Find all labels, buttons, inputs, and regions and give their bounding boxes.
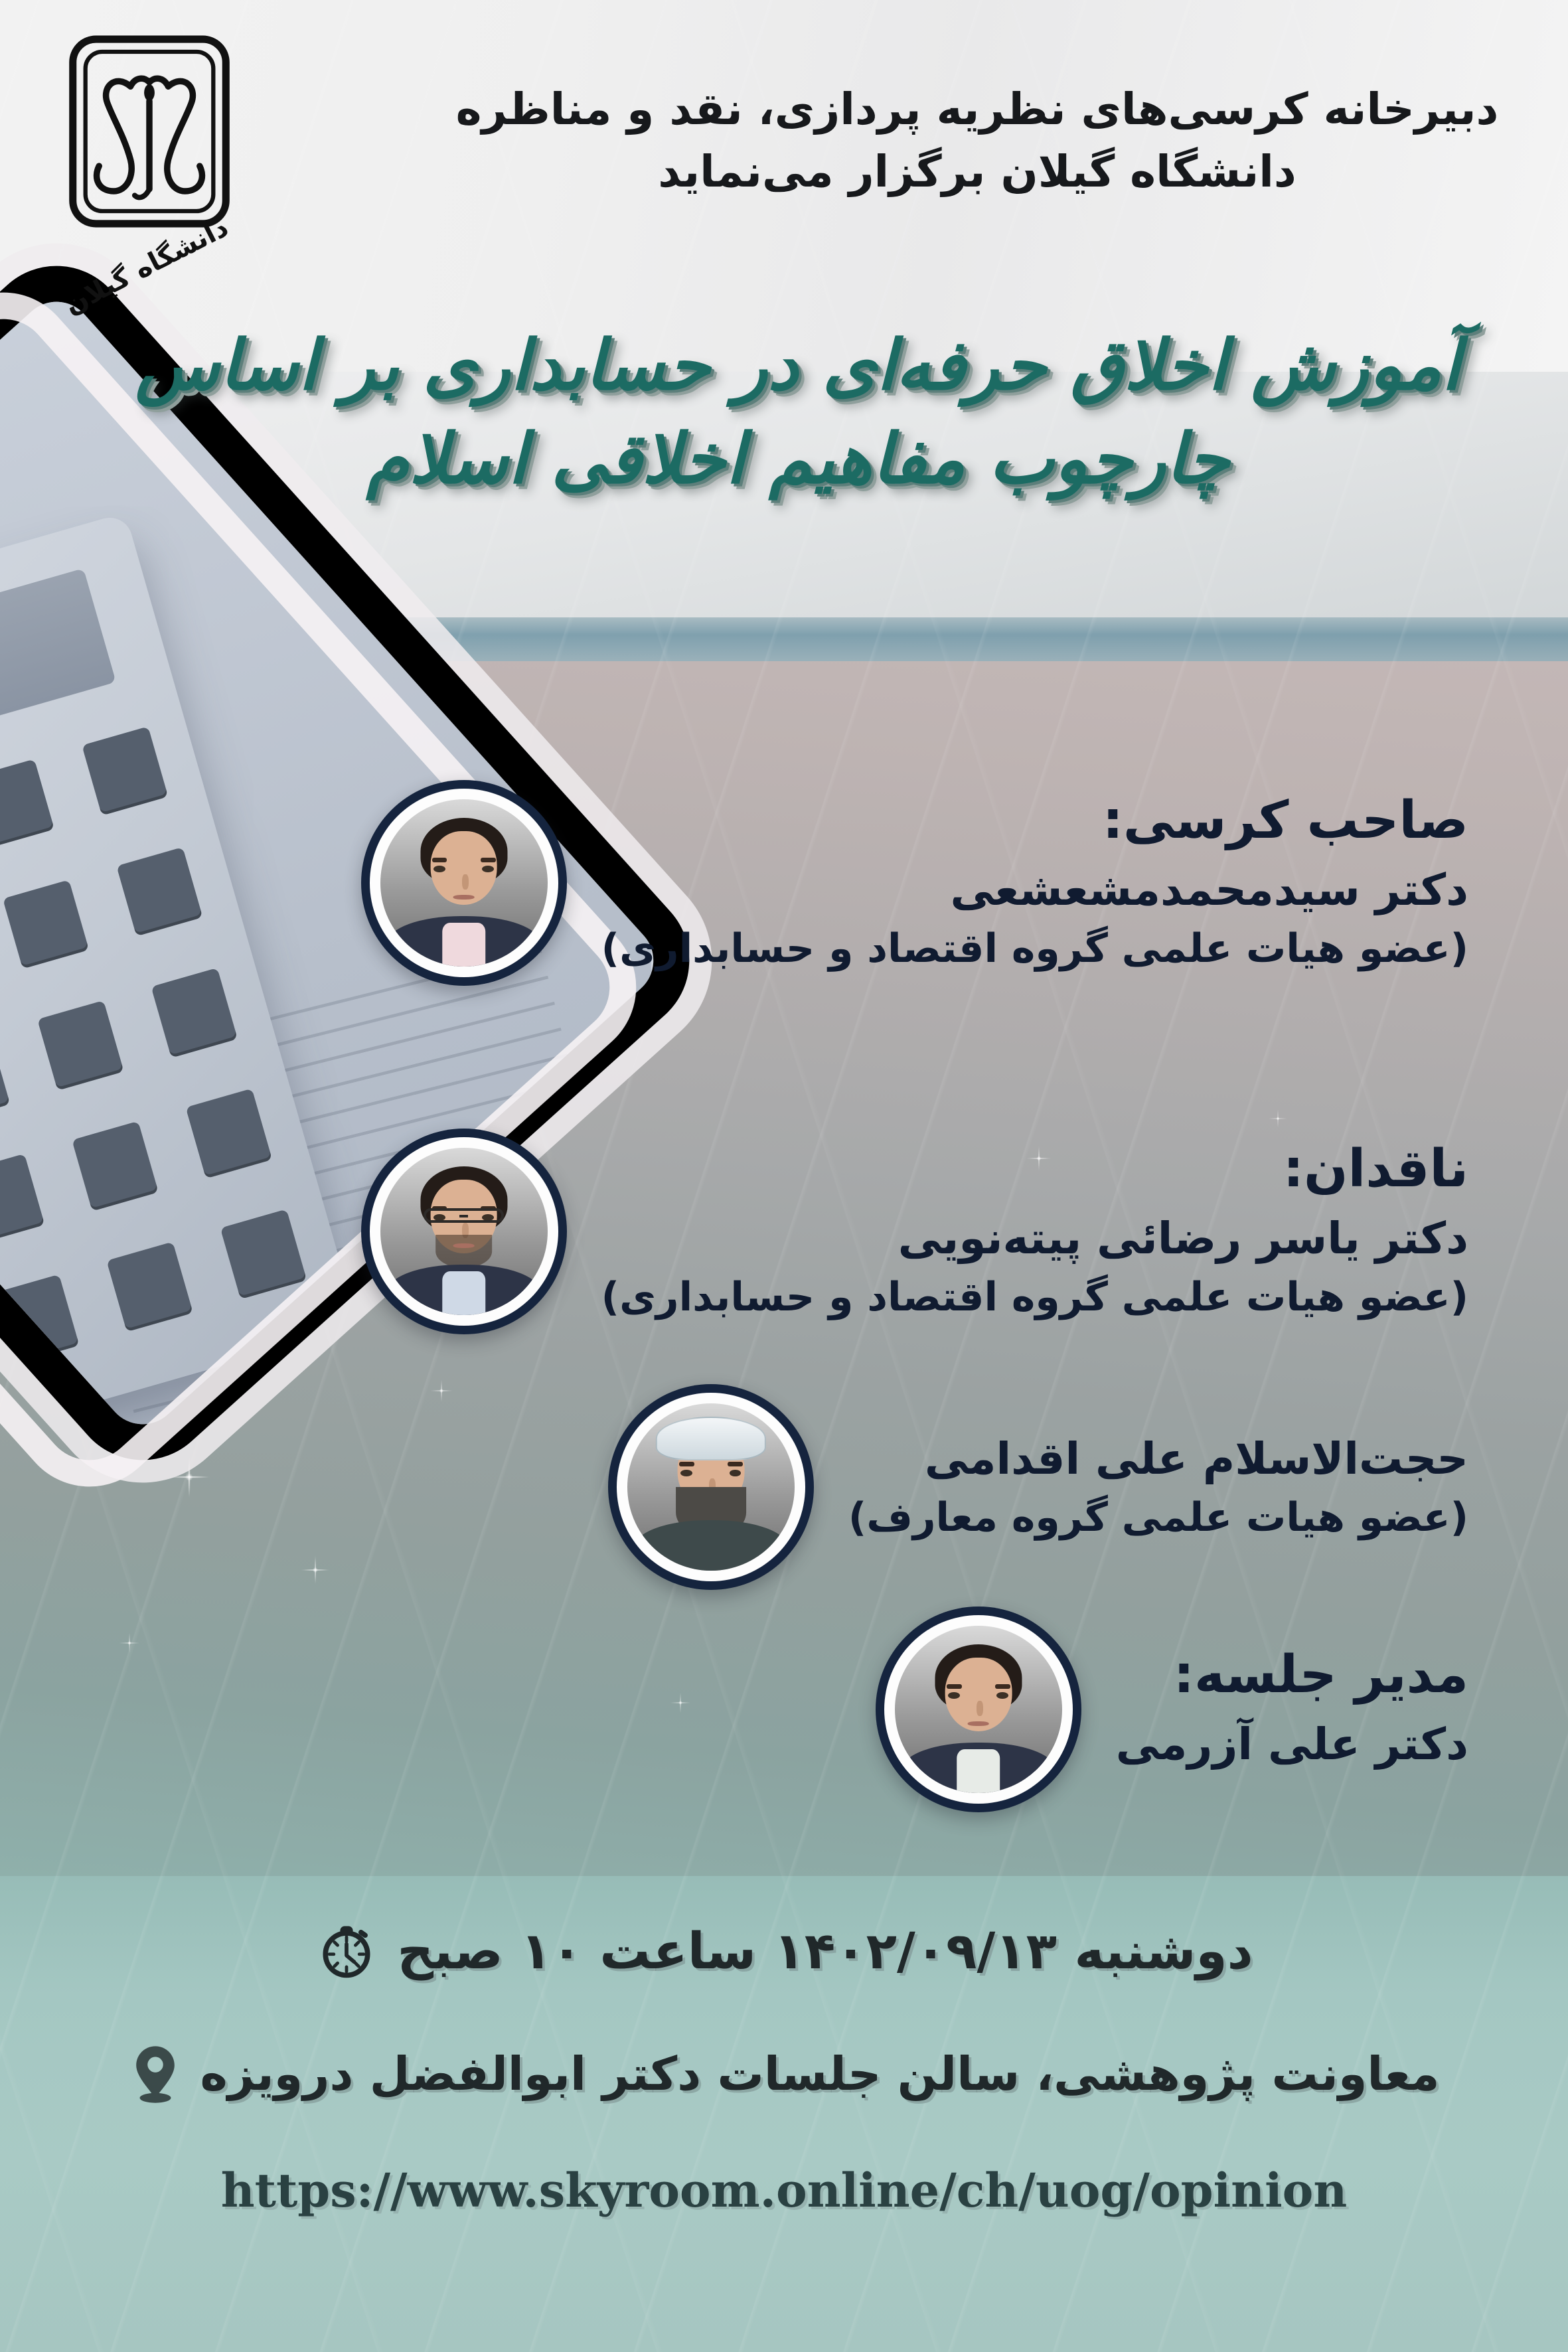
person-affiliation: (عضو هیات علمی گروه اقتصاد و حسابداری) <box>601 1271 1468 1323</box>
event-poster: دانشگاه گیلان دبیرخانه کرسی‌های نظریه پر… <box>0 0 1568 2352</box>
avatar-ring <box>884 1615 1073 1804</box>
person-chair-holder: صاحب کرسی: دکتر سیدمحمدمشعشعی (عضو هیات … <box>361 780 1468 986</box>
poster-footer: دوشنبه ۱۴۰۲/۰۹/۱۳ ساعت ۱۰ صبح <box>0 1919 1568 2218</box>
avatar-ring <box>617 1393 805 1581</box>
person-role-label: صاحب کرسی: <box>601 791 1468 851</box>
avatar-ring <box>370 1137 558 1326</box>
avatar-photo <box>895 1626 1062 1793</box>
event-location-row: معاونت پژوهشی، سالن جلسات دکتر ابوالفضل … <box>0 2042 1568 2106</box>
avatar <box>361 780 567 986</box>
organizer-line-2: دانشگاه گیلان برگزار می‌نماید <box>433 141 1522 203</box>
avatar-photo <box>380 799 548 967</box>
avatar-ring <box>370 789 558 977</box>
university-of-gilan-logo-icon <box>63 32 236 231</box>
avatar <box>876 1607 1081 1812</box>
person-role-label: ناقدان: <box>601 1140 1468 1200</box>
university-logo: دانشگاه گیلان <box>40 32 259 344</box>
poster-title-line-1: آموزش اخلاق حرفه‌ای در حسابداری بر اساس <box>74 319 1522 412</box>
map-pin-icon <box>129 2042 182 2106</box>
event-datetime-row: دوشنبه ۱۴۰۲/۰۹/۱۳ ساعت ۱۰ صبح <box>0 1919 1568 1982</box>
person-critic-1-text: ناقدان: دکتر یاسر رضائی پیته‌نویی (عضو ه… <box>601 1140 1468 1322</box>
person-critic-2: حجت‌الاسلام علی اقدامی (عضو هیات علمی گر… <box>608 1384 1468 1590</box>
stopwatch-icon <box>315 1919 378 1982</box>
person-critic-2-text: حجت‌الاسلام علی اقدامی (عضو هیات علمی گر… <box>848 1431 1468 1543</box>
organizer-line-1: دبیرخانه کرسی‌های نظریه پردازی، نقد و من… <box>433 78 1522 141</box>
person-role-label: مدیر جلسه: <box>1116 1646 1468 1705</box>
poster-title-line-2: چارچوب مفاهیم اخلاقی اسلام <box>74 412 1522 506</box>
person-affiliation: (عضو هیات علمی گروه معارف) <box>848 1492 1468 1543</box>
organizer-header: دبیرخانه کرسی‌های نظریه پردازی، نقد و من… <box>433 78 1522 202</box>
avatar <box>361 1129 567 1334</box>
person-session-director-text: مدیر جلسه: دکتر علی آزرمی <box>1116 1646 1468 1772</box>
poster-title: آموزش اخلاق حرفه‌ای در حسابداری بر اساس … <box>74 319 1522 507</box>
person-name: دکتر یاسر رضائی پیته‌نویی <box>601 1210 1468 1267</box>
person-chair-holder-text: صاحب کرسی: دکتر سیدمحمدمشعشعی (عضو هیات … <box>601 791 1468 974</box>
person-critic-1: ناقدان: دکتر یاسر رضائی پیته‌نویی (عضو ه… <box>361 1129 1468 1334</box>
avatar <box>608 1384 814 1590</box>
avatar-photo <box>627 1403 795 1571</box>
event-location-text: معاونت پژوهشی، سالن جلسات دکتر ابوالفضل … <box>200 2047 1440 2101</box>
avatar-photo <box>380 1148 548 1315</box>
event-url[interactable]: https://www.skyroom.online/ch/uog/opinio… <box>0 2163 1568 2218</box>
event-datetime-text: دوشنبه ۱۴۰۲/۰۹/۱۳ ساعت ۱۰ صبح <box>397 1921 1253 1980</box>
person-name: حجت‌الاسلام علی اقدامی <box>848 1431 1468 1488</box>
person-affiliation: (عضو هیات علمی گروه اقتصاد و حسابداری) <box>601 923 1468 975</box>
person-name: دکتر علی آزرمی <box>1116 1716 1468 1773</box>
person-name: دکتر سیدمحمدمشعشعی <box>601 862 1468 919</box>
person-session-director: مدیر جلسه: دکتر علی آزرمی <box>876 1607 1468 1812</box>
